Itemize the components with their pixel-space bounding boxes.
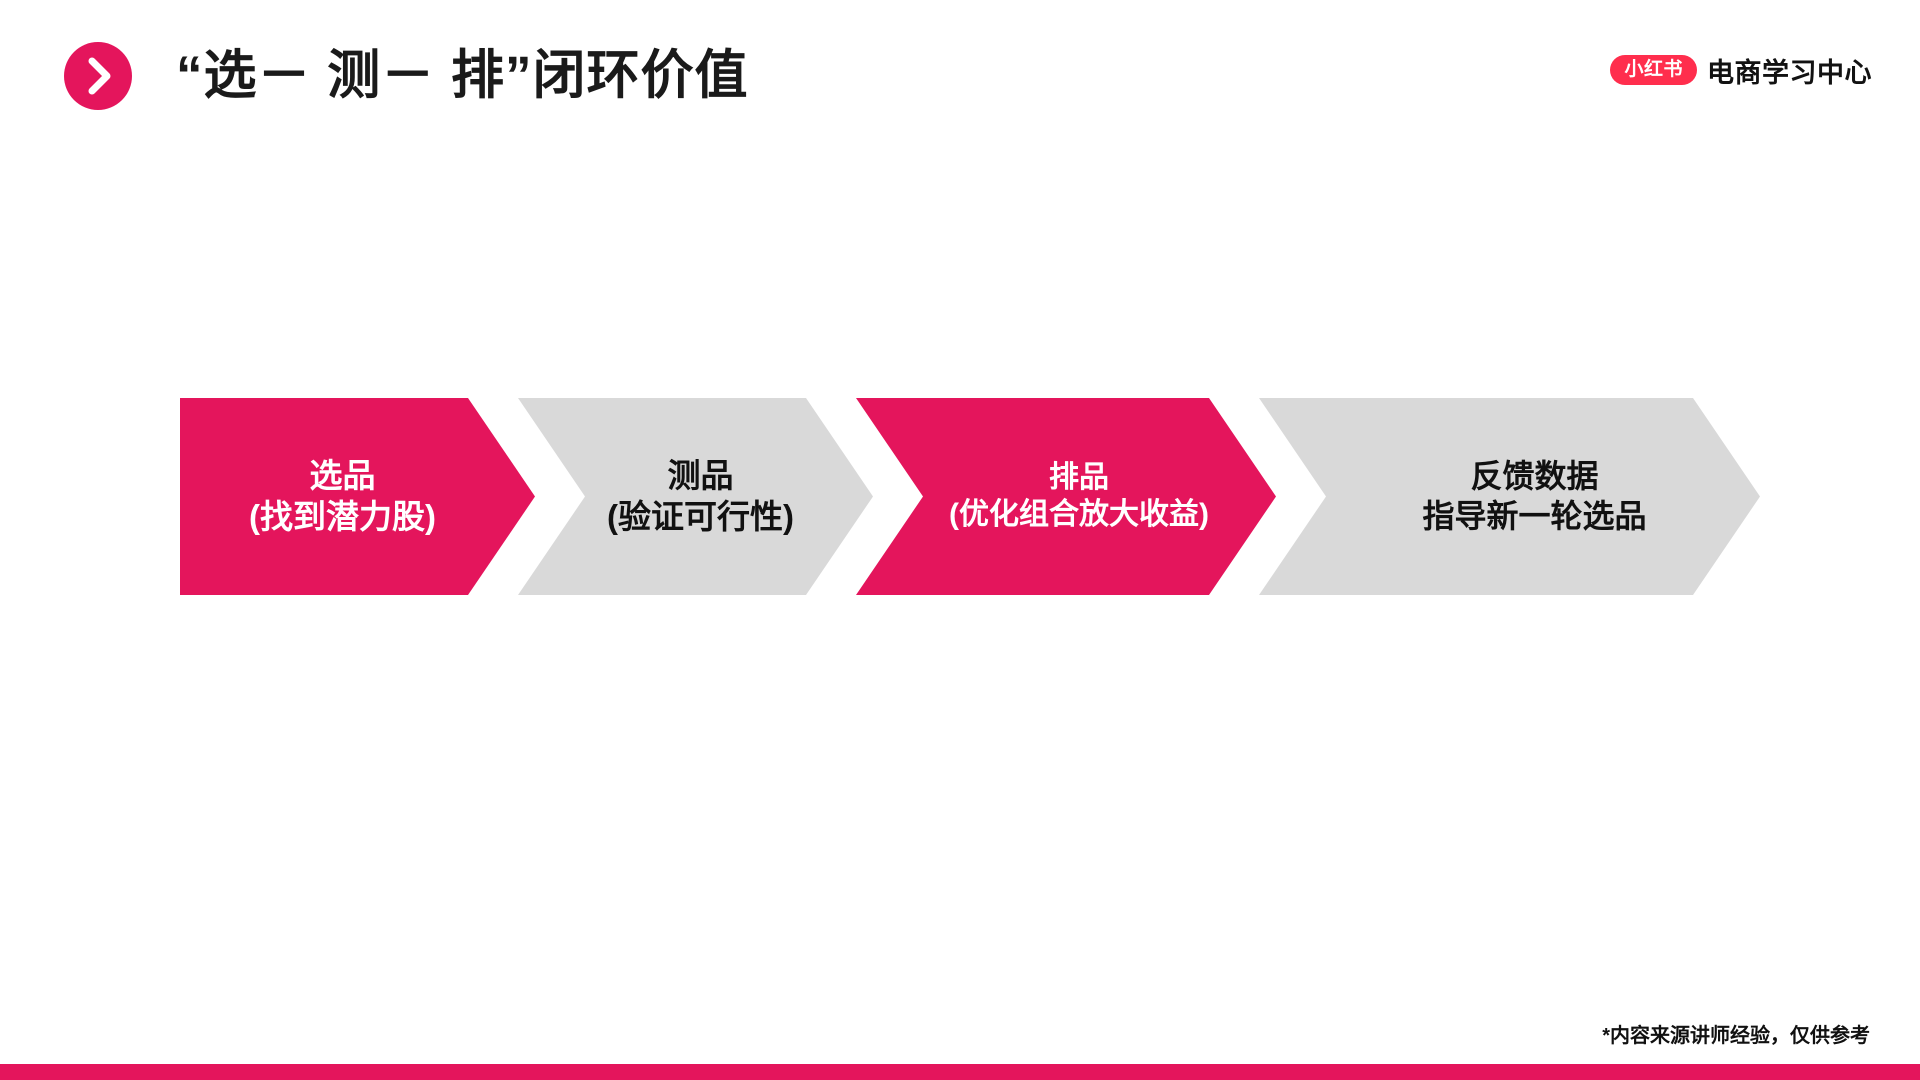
bottom-accent-bar [0, 1064, 1920, 1080]
chevron-right-icon [64, 42, 132, 110]
flow-step-line1: 测品 [607, 456, 794, 496]
flow-step-feedback: 反馈数据 指导新一轮选品 [1259, 398, 1760, 595]
flow-step-select: 选品 (找到潜力股) [180, 398, 535, 595]
flow-step-label: 排品 (优化组合放大收益) [909, 460, 1223, 533]
flow-step-line1: 选品 [249, 456, 436, 496]
brand-lockup: 小红书 电商学习中心 [1610, 48, 1872, 92]
flow-step-line2: (验证可行性) [607, 497, 794, 537]
footnote-text: *内容来源讲师经验，仅供参考 [1602, 1019, 1870, 1048]
page-title: “选－ 测－ 排”闭环价值 [176, 38, 748, 114]
flow-step-line2: 指导新一轮选品 [1422, 497, 1646, 536]
xiaohongshu-logo: 小红书 [1610, 55, 1697, 85]
flow-step-rank: 排品 (优化组合放大收益) [856, 398, 1276, 595]
brand-name: 电商学习中心 [1707, 51, 1872, 90]
slide-header: “选－ 测－ 排”闭环价值 小红书 电商学习中心 [0, 0, 1920, 150]
flow-step-label: 选品 (找到潜力股) [249, 456, 466, 537]
flow-step-line1: 排品 [949, 460, 1209, 497]
flow-step-label: 测品 (验证可行性) [585, 456, 806, 537]
flow-step-line1: 反馈数据 [1422, 457, 1646, 496]
flow-step-line2: (优化组合放大收益) [949, 497, 1209, 534]
flow-step-label: 反馈数据 指导新一轮选品 [1352, 457, 1666, 535]
flow-step-line2: (找到潜力股) [249, 497, 436, 537]
flow-step-test: 测品 (验证可行性) [518, 398, 873, 595]
process-flow-diagram: 选品 (找到潜力股) 测品 (验证可行性) 排品 (优化组合放大收益) 反馈数据… [180, 398, 1760, 595]
